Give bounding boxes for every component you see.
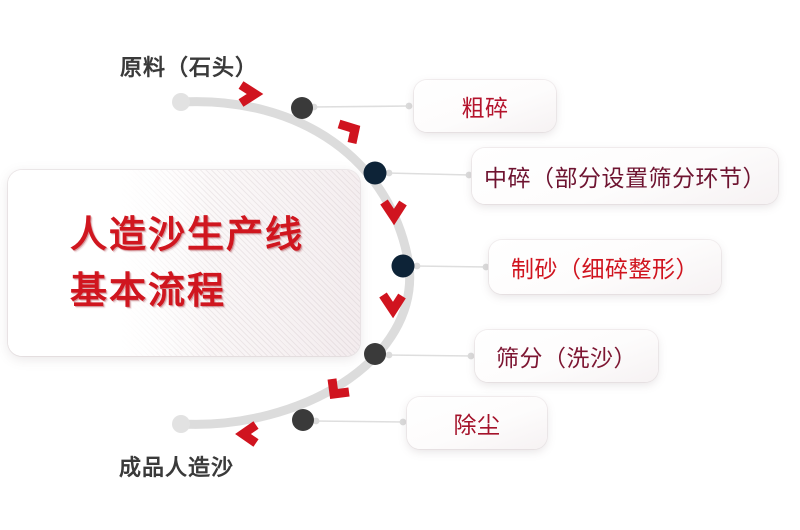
flow-node-3[interactable] xyxy=(364,343,386,365)
title-card: 人造沙生产线 基本流程 xyxy=(8,170,360,356)
step-card-2[interactable]: 制砂（细碎整形） xyxy=(489,240,721,294)
flow-node-2[interactable] xyxy=(392,255,415,278)
title-line-2: 基本流程 xyxy=(70,263,360,319)
step-label-1: 中碎（部分设置筛分环节） xyxy=(484,159,766,193)
flow-node-0[interactable] xyxy=(291,97,313,119)
diagram-canvas: 人造沙生产线 基本流程 原料（石头） 成品人造沙 粗碎 中碎（部分设置筛分环节）… xyxy=(0,0,800,530)
arrow-chevron-0 xyxy=(241,85,255,103)
step-card-0[interactable]: 粗碎 xyxy=(414,80,556,132)
step-card-4[interactable]: 除尘 xyxy=(407,397,547,449)
flow-node-1[interactable] xyxy=(364,162,387,185)
arrow-chevron-1 xyxy=(339,124,355,143)
start-label: 原料（石头） xyxy=(120,50,258,82)
step-label-4: 除尘 xyxy=(454,406,501,440)
end-label: 成品人造沙 xyxy=(119,450,234,482)
flow-node-4[interactable] xyxy=(292,409,314,431)
title-line-1: 人造沙生产线 xyxy=(70,207,360,263)
start-endpoint-dot xyxy=(172,93,190,111)
arrow-chevron-3 xyxy=(383,295,402,310)
step-label-2: 制砂（细碎整形） xyxy=(511,250,699,284)
step-label-3: 筛分（洗沙） xyxy=(496,339,637,373)
step-card-1[interactable]: 中碎（部分设置筛分环节） xyxy=(472,148,778,204)
step-card-3[interactable]: 筛分（洗沙） xyxy=(475,330,658,382)
step-label-0: 粗碎 xyxy=(462,89,509,123)
end-endpoint-dot xyxy=(172,415,190,433)
arrow-chevron-5 xyxy=(243,425,256,443)
